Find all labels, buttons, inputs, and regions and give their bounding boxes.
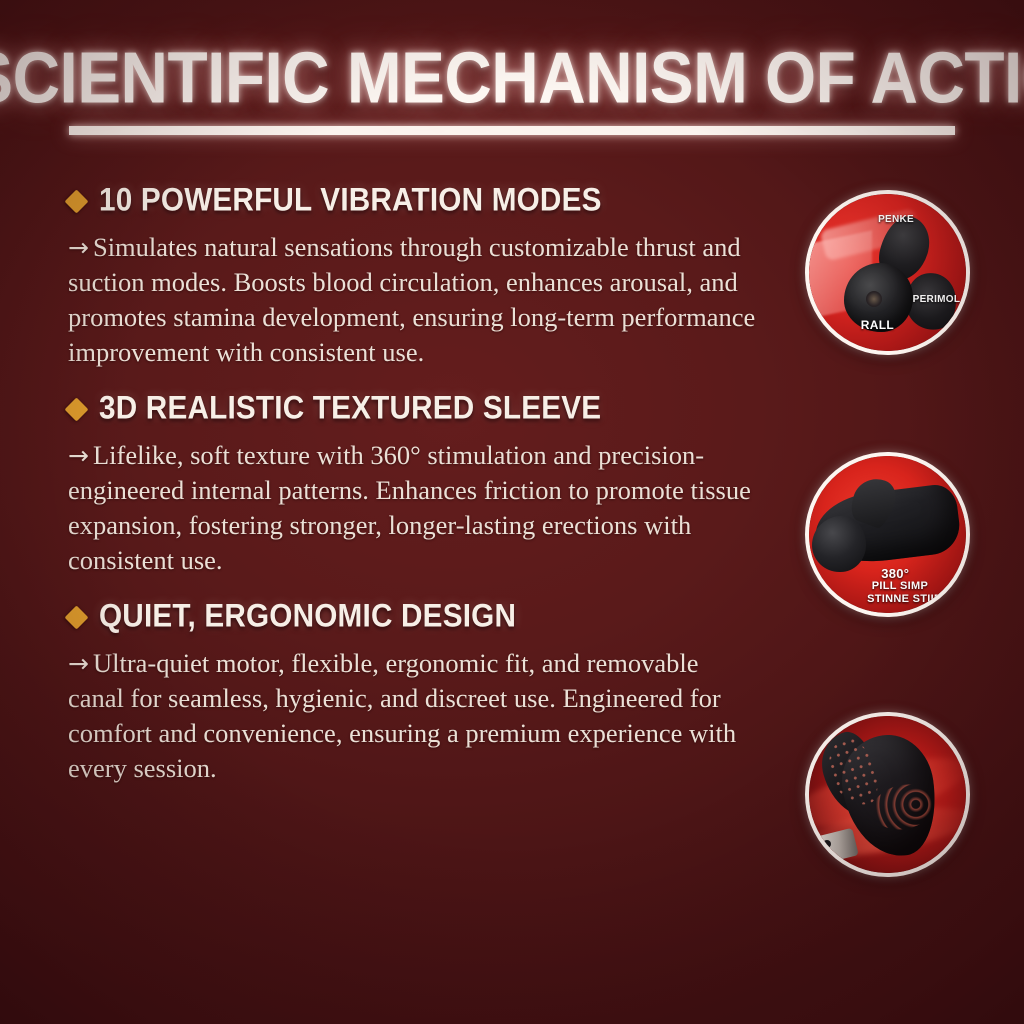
feature-body-text-1: Simulates natural sensations through cus… [68,232,755,367]
photo-caption-2: PILL SIMP [872,580,928,592]
feature-section-1: 10 POWERFUL VIBRATION MODES →Simulates n… [68,184,768,370]
photo-inner [809,716,966,873]
feature-heading-3: QUIET, ERGONOMIC DESIGN [99,599,516,636]
feature-section-3: QUIET, ERGONOMIC DESIGN →Ultra-quiet mot… [68,600,768,786]
title-block: SCIENTIFIC MECHANISM OF ACTION [0,42,1024,135]
photo-inner: PENKE RALL PERIMOL [809,194,966,351]
photo-caption-1: 380° [881,566,909,581]
poster-canvas: SCIENTIFIC MECHANISM OF ACTION 10 POWERF… [0,0,1024,1024]
feature-body-2: →Lifelike, soft texture with 360° stimul… [68,438,758,578]
feature-body-1: →Simulates natural sensations through cu… [68,230,758,370]
photo-inner: 380° PILL SIMP STINNE STIIRD [809,456,966,613]
feature-body-text-2: Lifelike, soft texture with 360° stimula… [68,440,751,575]
arrow-icon: → [68,233,93,262]
product-photo-textured-sleeve: 380° PILL SIMP STINNE STIIRD [805,452,970,617]
feature-body-text-3: Ultra-quiet motor, flexible, ergonomic f… [68,648,736,783]
feature-body-3: →Ultra-quiet motor, flexible, ergonomic … [68,646,758,786]
photo-caption-1: PENKE [878,214,914,225]
feature-heading-row-3: QUIET, ERGONOMIC DESIGN [68,600,768,634]
title-underline-rule [69,126,955,135]
diamond-bullet-icon [64,397,88,421]
feature-sections: 10 POWERFUL VIBRATION MODES →Simulates n… [68,184,768,786]
diamond-bullet-icon [64,189,88,213]
arrow-icon: → [68,441,93,470]
product-photo-ergonomic-design [805,712,970,877]
photo-device-button [866,291,882,307]
photo-caption-3: STINNE STIIRD [867,593,950,605]
feature-heading-2: 3D REALISTIC TEXTURED SLEEVE [99,391,601,428]
feature-heading-row-2: 3D REALISTIC TEXTURED SLEEVE [68,392,768,426]
feature-heading-1: 10 POWERFUL VIBRATION MODES [99,183,602,220]
product-photo-vibration-modes: PENKE RALL PERIMOL [805,190,970,355]
diamond-bullet-icon [64,605,88,629]
photo-caption-2: RALL [861,318,894,332]
arrow-icon: → [68,649,93,678]
feature-section-2: 3D REALISTIC TEXTURED SLEEVE →Lifelike, … [68,392,768,578]
photo-caption-3: PERIMOL [913,294,961,305]
feature-heading-row-1: 10 POWERFUL VIBRATION MODES [68,184,768,218]
photo-device-head [812,516,865,573]
page-title: SCIENTIFIC MECHANISM OF ACTION [0,42,1024,116]
